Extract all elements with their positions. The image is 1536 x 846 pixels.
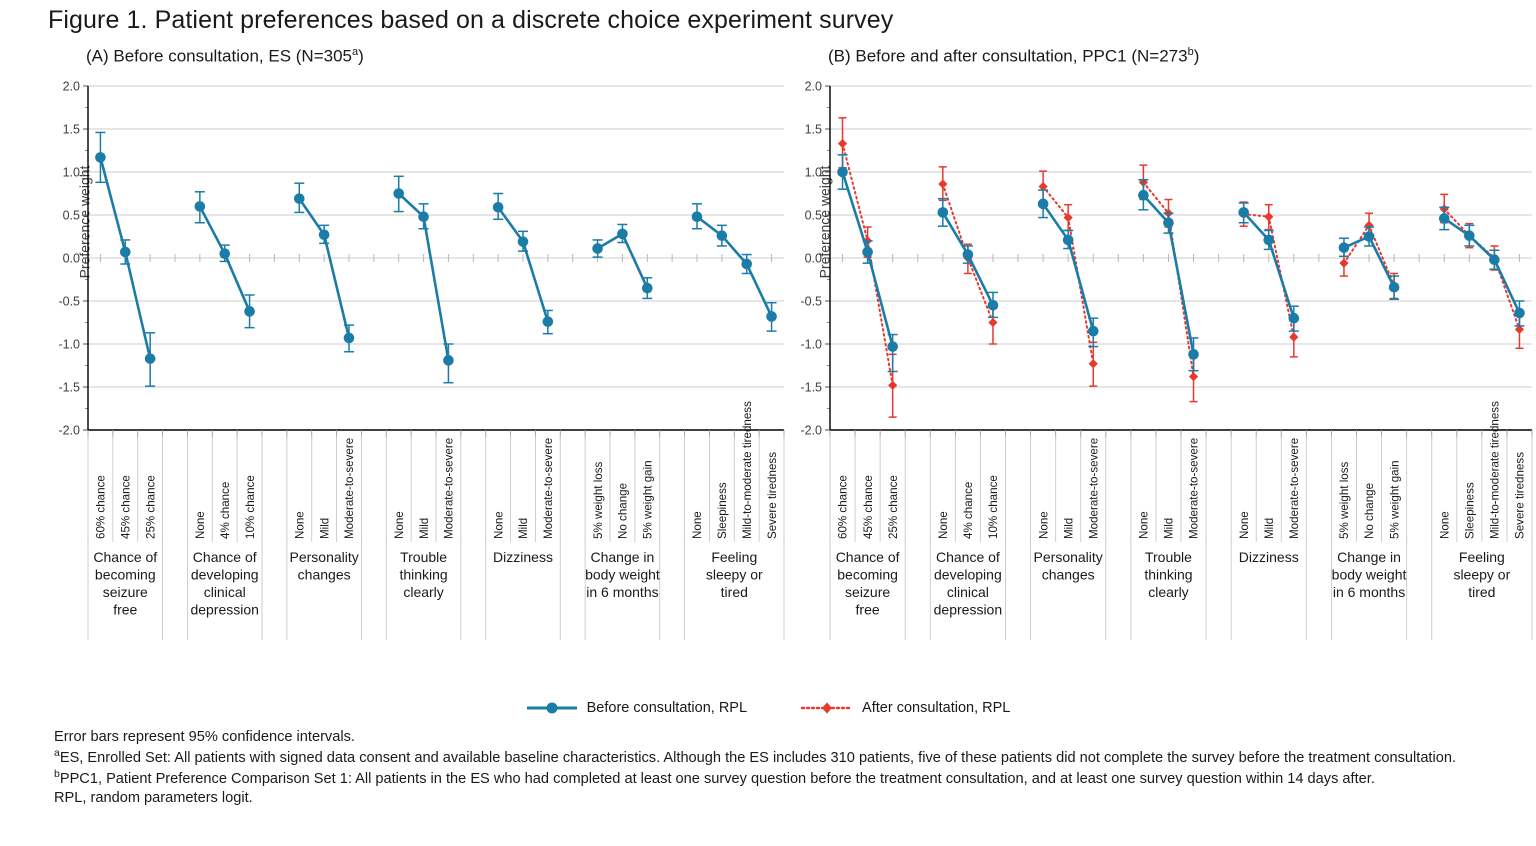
data-point-marker (1289, 313, 1300, 324)
x-axis-level-label: 5% weight gain (641, 460, 654, 539)
data-point-marker (145, 353, 156, 364)
attribute-group-label: becoming (837, 567, 898, 583)
footnote-line: bPPC1, Patient Preference Comparison Set… (54, 768, 1504, 789)
x-axis-level-label: 5% weight loss (1338, 461, 1351, 539)
data-point-marker (838, 139, 847, 148)
attribute-group-label: Chance of (836, 549, 900, 565)
panel-b-title-suffix: ) (1194, 47, 1200, 66)
data-point-marker (294, 193, 305, 204)
x-axis-level-label: 10% chance (244, 475, 257, 539)
series-line (697, 217, 772, 317)
x-axis-level-label: Mild (517, 518, 530, 539)
attribute-group-label: Change in (591, 549, 655, 565)
panel-a-title: (A) Before consultation, ES (N=305a) (86, 46, 364, 67)
attribute-group-label: seizure (103, 584, 148, 600)
attribute-group-label: clearly (403, 584, 443, 600)
data-point-marker (1188, 349, 1199, 360)
x-axis-level-label: Severe tiredness (1514, 452, 1527, 539)
data-point-marker (344, 333, 355, 344)
y-axis-tick-label: -1.5 (58, 381, 80, 395)
attribute-group-label: changes (298, 567, 351, 583)
x-axis-level-label: None (492, 511, 505, 539)
data-point-marker (418, 211, 429, 222)
x-axis-level-label: None (937, 511, 950, 539)
data-point-marker (988, 318, 997, 327)
attribute-group-label: clinical (947, 584, 989, 600)
data-point-marker (443, 355, 454, 366)
data-point-marker (95, 152, 106, 163)
footnotes: Error bars represent 95% confidence inte… (54, 728, 1504, 808)
legend-swatch-after-icon (801, 700, 853, 716)
data-point-marker (1439, 213, 1450, 224)
x-axis-level-label: Moderate-to-severe (1288, 438, 1301, 539)
x-axis-level-label: Mild (418, 518, 431, 539)
x-axis-level-label: 4% chance (962, 482, 975, 539)
y-axis-tick-label: 1.5 (63, 123, 80, 137)
x-axis-level-label: 5% weight gain (1388, 460, 1401, 539)
data-point-marker (1514, 308, 1525, 319)
data-point-marker (766, 311, 777, 322)
panel-b: (B) Before and after consultation, PPC1 … (790, 44, 1536, 724)
attribute-group-label: Change in (1337, 549, 1401, 565)
data-point-marker (887, 341, 898, 352)
data-point-marker (1089, 359, 1098, 368)
panel-b-title: (B) Before and after consultation, PPC1 … (828, 46, 1199, 67)
data-point-marker (592, 243, 603, 254)
attribute-group-label: Dizziness (493, 549, 553, 565)
y-axis-tick-label: -2.0 (58, 424, 80, 438)
y-axis-tick-label: -1.0 (800, 338, 822, 352)
x-axis-level-label: None (1138, 511, 1151, 539)
series-line (498, 207, 548, 321)
attribute-group-label: Feeling (1459, 549, 1505, 565)
y-axis-tick-label: -1.5 (800, 381, 822, 395)
attribute-group-label: in 6 months (586, 584, 658, 600)
data-point-marker (518, 236, 529, 247)
attribute-group-label: sleepy or (1453, 567, 1510, 583)
attribute-group-label: developing (191, 567, 259, 583)
y-axis-tick-label: -0.5 (58, 295, 80, 309)
attribute-group-label: free (856, 602, 880, 618)
data-point-marker (692, 211, 703, 222)
series-line (299, 199, 349, 338)
attribute-group-label: free (113, 602, 137, 618)
attribute-group-label: depression (190, 602, 259, 618)
data-point-marker (1339, 259, 1348, 268)
x-axis-level-label: Severe tiredness (766, 452, 779, 539)
series-line (1444, 218, 1519, 313)
x-axis-level-label: Mild (318, 518, 331, 539)
x-axis-level-label: None (1438, 511, 1451, 539)
data-point-marker (617, 229, 628, 240)
panel-a-title-text: (A) Before consultation, ES (N=305 (86, 47, 352, 66)
attribute-group-label: depression (934, 602, 1003, 618)
x-axis-level-label: 60% chance (95, 475, 108, 539)
attribute-group-label: Feeling (711, 549, 757, 565)
attribute-group-label: Personality (290, 549, 359, 565)
data-point-marker (543, 316, 554, 327)
x-axis-level-label: Moderate-to-severe (443, 438, 456, 539)
attribute-group-label: body weight (585, 567, 660, 583)
attribute-group-label: sleepy or (706, 567, 763, 583)
attribute-group-label: developing (934, 567, 1002, 583)
attribute-group-label: Trouble (1145, 549, 1192, 565)
x-axis-level-label: No change (617, 483, 630, 539)
x-axis-level-label: 5% weight loss (592, 461, 605, 539)
x-axis-level-label: None (393, 511, 406, 539)
y-axis-tick-label: 2.0 (63, 80, 80, 94)
data-point-marker (1238, 207, 1249, 218)
attribute-group-label: Personality (1034, 549, 1103, 565)
data-point-marker (963, 249, 974, 260)
x-axis-level-label: 10% chance (987, 475, 1000, 539)
series-before (95, 132, 777, 386)
data-point-marker (1088, 326, 1099, 337)
footnote-line: aES, Enrolled Set: All patients with sig… (54, 747, 1504, 768)
data-point-marker (319, 229, 330, 240)
y-axis-tick-label: -0.5 (800, 295, 822, 309)
y-axis-tick-label: 0.0 (805, 252, 822, 266)
footnote-text: RPL, random parameters logit. (54, 790, 253, 806)
data-point-marker (1163, 217, 1174, 228)
panel-b-svg: 2.01.51.00.50.0-0.5-1.0-1.5-2.060% chanc… (790, 78, 1536, 668)
x-axis-level-label: 25% chance (144, 475, 157, 539)
data-point-marker (837, 167, 848, 178)
x-axis-level-label: None (691, 511, 704, 539)
data-point-marker (244, 306, 255, 317)
panel-a-plot: 2.01.51.00.50.0-0.5-1.0-1.5-2.060% chanc… (48, 78, 788, 668)
series-line (843, 144, 893, 386)
y-axis-tick-label: 1.5 (805, 123, 822, 137)
attribute-group-label: Chance of (93, 549, 157, 565)
footnote-line: RPL, random parameters logit. (54, 789, 1504, 808)
y-axis-tick-label: 0.5 (63, 209, 80, 223)
x-axis-level-label: 45% chance (119, 475, 132, 539)
x-axis-level-label: Moderate-to-severe (343, 438, 356, 539)
data-point-marker (1389, 282, 1400, 293)
data-point-marker (195, 201, 206, 212)
data-point-marker (642, 283, 653, 294)
y-axis-tick-label: -1.0 (58, 338, 80, 352)
x-axis-level-label: None (194, 511, 207, 539)
panel-a-svg: 2.01.51.00.50.0-0.5-1.0-1.5-2.060% chanc… (48, 78, 788, 668)
y-axis-tick-label: 1.0 (63, 166, 80, 180)
attribute-group-label: Chance of (193, 549, 257, 565)
panel-b-title-text: (B) Before and after consultation, PPC1 … (828, 47, 1188, 66)
attribute-group-label: Chance of (936, 549, 1000, 565)
data-point-marker (717, 230, 728, 241)
x-axis-level-label: 4% chance (219, 482, 232, 539)
x-axis-level-label: None (293, 511, 306, 539)
x-axis-level-label: Mild (1062, 518, 1075, 539)
attribute-group-label: body weight (1332, 567, 1407, 583)
x-axis-level-label: 45% chance (862, 475, 875, 539)
attribute-group-label: seizure (845, 584, 890, 600)
data-point-marker (219, 248, 230, 259)
series-before (837, 155, 1525, 372)
x-axis-level-label: Mild (1163, 518, 1176, 539)
data-point-marker (1263, 235, 1274, 246)
figure-title: Figure 1. Patient preferences based on a… (48, 6, 893, 35)
legend-label-after: After consultation, RPL (862, 700, 1010, 716)
attribute-group-label: in 6 months (1333, 584, 1405, 600)
x-axis-level-label: 25% chance (887, 475, 900, 539)
y-axis-tick-label: 2.0 (805, 80, 822, 94)
data-point-marker (938, 179, 947, 188)
x-axis-level-label: Sleepiness (716, 482, 729, 539)
attribute-group-label: tired (1468, 584, 1495, 600)
x-axis-level-label: Mild (1263, 518, 1276, 539)
attribute-group-label: thinking (1144, 567, 1192, 583)
data-point-marker (938, 207, 949, 218)
x-axis-level-label: 60% chance (837, 475, 850, 539)
x-axis-level-label: Sleepiness (1464, 482, 1477, 539)
attribute-group-label: clinical (204, 584, 246, 600)
data-point-marker (1464, 230, 1475, 241)
attribute-group-label: thinking (399, 567, 447, 583)
legend-entry-before: Before consultation, RPL (526, 700, 747, 716)
legend-swatch-before-icon (526, 700, 578, 716)
y-axis-tick-label: 0.5 (805, 209, 822, 223)
x-axis-level-label: None (1238, 511, 1251, 539)
data-point-marker (1138, 190, 1149, 201)
y-axis-tick-label: -2.0 (800, 424, 822, 438)
x-axis-level-label: Moderate-to-severe (542, 438, 555, 539)
x-axis-level-label: No change (1363, 483, 1376, 539)
data-point-marker (393, 188, 404, 199)
panel-a-title-suffix: ) (358, 47, 364, 66)
attribute-group-label: becoming (95, 567, 156, 583)
panel-b-plot: 2.01.51.00.50.0-0.5-1.0-1.5-2.060% chanc… (790, 78, 1536, 668)
data-point-marker (1038, 199, 1049, 210)
data-point-marker (1339, 242, 1350, 253)
data-point-marker (1364, 231, 1375, 242)
y-axis-tick-label: 0.0 (63, 252, 80, 266)
data-point-marker (741, 259, 752, 270)
x-axis-level-label: Mild-to-moderate tiredness (1489, 401, 1502, 539)
attribute-group-label: Dizziness (1239, 549, 1299, 565)
data-point-marker (1063, 235, 1074, 246)
x-axis-level-label: Moderate-to-severe (1087, 438, 1100, 539)
attribute-group-label: Trouble (400, 549, 447, 565)
series-after (838, 118, 1524, 417)
attribute-group-label: clearly (1148, 584, 1188, 600)
data-point-marker (1289, 333, 1298, 342)
data-point-marker (988, 300, 999, 311)
data-point-marker (888, 381, 897, 390)
data-point-marker (120, 247, 131, 258)
legend-label-before: Before consultation, RPL (587, 700, 747, 716)
x-axis-level-label: Mild-to-moderate tiredness (741, 401, 754, 539)
data-point-marker (1489, 254, 1500, 265)
data-point-marker (1264, 212, 1273, 221)
data-point-marker (862, 247, 873, 258)
y-axis-tick-label: 1.0 (805, 166, 822, 180)
attribute-group-label: changes (1042, 567, 1095, 583)
x-axis-level-label: Moderate-to-severe (1188, 438, 1201, 539)
attribute-group-label: tired (721, 584, 748, 600)
footnote-text: Error bars represent 95% confidence inte… (54, 729, 355, 745)
footnote-text: ES, Enrolled Set: All patients with sign… (60, 750, 1456, 766)
footnote-text: PPC1, Patient Preference Comparison Set … (60, 771, 1375, 787)
x-axis-level-label: None (1037, 511, 1050, 539)
data-point-marker (493, 202, 504, 213)
panel-a: (A) Before consultation, ES (N=305a) Pre… (48, 44, 788, 724)
data-point-marker (1189, 372, 1198, 381)
footnote-line: Error bars represent 95% confidence inte… (54, 728, 1504, 747)
chart-legend: Before consultation, RPL After consultat… (0, 700, 1536, 716)
legend-entry-after: After consultation, RPL (801, 700, 1010, 716)
